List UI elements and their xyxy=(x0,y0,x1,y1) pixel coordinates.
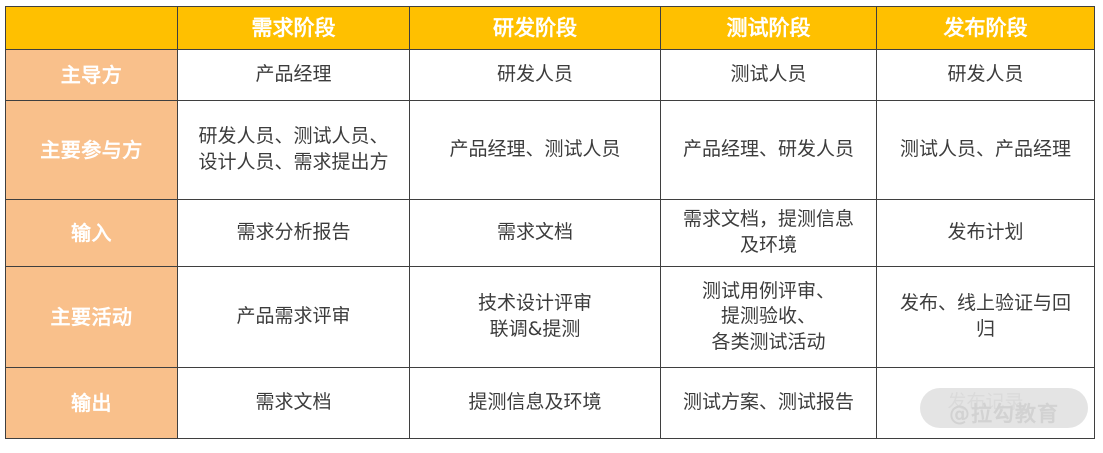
cell-activities-testing: 测试用例评审、 提测验收、 各类测试活动 xyxy=(661,267,877,368)
cell-input-testing: 需求文档，提测信息 及环境 xyxy=(661,200,877,267)
table-row: 主导方 产品经理 研发人员 测试人员 研发人员 xyxy=(6,50,1095,101)
cell-text-line: 研发人员 xyxy=(416,62,654,88)
table-corner-cell xyxy=(6,7,178,50)
cell-text-line: 测试人员 xyxy=(667,62,870,88)
cell-text-line: 设计人员、需求提出方 xyxy=(184,150,403,176)
cell-text-line: 发布记录 xyxy=(883,390,1088,416)
cell-text-line: 产品经理、研发人员 xyxy=(667,137,870,163)
cell-participants-release: 测试人员、产品经理 xyxy=(877,101,1095,200)
cell-participants-development: 产品经理、测试人员 xyxy=(410,101,661,200)
column-header-requirement: 需求阶段 xyxy=(178,7,410,50)
cell-activities-requirement: 产品需求评审 xyxy=(178,267,410,368)
cell-input-release: 发布计划 xyxy=(877,200,1095,267)
cell-output-testing: 测试方案、测试报告 xyxy=(661,368,877,439)
cell-text-line: 技术设计评审 xyxy=(416,291,654,317)
column-header-release: 发布阶段 xyxy=(877,7,1095,50)
row-label-output: 输出 xyxy=(6,368,178,439)
cell-owner-testing: 测试人员 xyxy=(661,50,877,101)
table-row: 主要活动 产品需求评审 技术设计评审 联调&提测 测试用例评审、 提测验收、 各… xyxy=(6,267,1095,368)
cell-text-line: 测试人员、产品经理 xyxy=(883,137,1088,163)
cell-text-line: 各类测试活动 xyxy=(667,330,870,356)
cell-text-line: 提测信息及环境 xyxy=(416,390,654,416)
cell-activities-development: 技术设计评审 联调&提测 xyxy=(410,267,661,368)
cell-text-line: 需求文档 xyxy=(184,390,403,416)
cell-participants-testing: 产品经理、研发人员 xyxy=(661,101,877,200)
table-row: 输出 需求文档 提测信息及环境 测试方案、测试报告 发布记录 xyxy=(6,368,1095,439)
table-row: 主要参与方 研发人员、测试人员、 设计人员、需求提出方 产品经理、测试人员 产品… xyxy=(6,101,1095,200)
cell-text-line: 需求文档，提测信息 xyxy=(667,207,870,233)
row-label-owner: 主导方 xyxy=(6,50,178,101)
row-label-input: 输入 xyxy=(6,200,178,267)
cell-text-line: 需求文档 xyxy=(416,220,654,246)
cell-output-requirement: 需求文档 xyxy=(178,368,410,439)
cell-owner-requirement: 产品经理 xyxy=(178,50,410,101)
cell-text-line: 需求分析报告 xyxy=(184,220,403,246)
cell-text-line: 产品需求评审 xyxy=(184,304,403,330)
cell-output-release: 发布记录 xyxy=(877,368,1095,439)
table-row: 输入 需求分析报告 需求文档 需求文档，提测信息 及环境 发布计划 xyxy=(6,200,1095,267)
cell-text-line: 及环境 xyxy=(667,233,870,259)
spreadsheet-canvas: 需求阶段 研发阶段 测试阶段 发布阶段 主导方 产品经理 研发人员 测试人员 研… xyxy=(0,0,1103,453)
cell-owner-development: 研发人员 xyxy=(410,50,661,101)
cell-text-line: 提测验收、 xyxy=(667,304,870,330)
cell-input-development: 需求文档 xyxy=(410,200,661,267)
cell-text-line: 联调&提测 xyxy=(416,317,654,343)
cell-text-line: 发布计划 xyxy=(883,220,1088,246)
cell-text-line: 研发人员、测试人员、 xyxy=(184,124,403,150)
cell-text-line: 产品经理、测试人员 xyxy=(416,137,654,163)
cell-activities-release: 发布、线上验证与回 归 xyxy=(877,267,1095,368)
table-header-row: 需求阶段 研发阶段 测试阶段 发布阶段 xyxy=(6,7,1095,50)
cell-text-line: 测试用例评审、 xyxy=(667,279,870,305)
row-label-activities: 主要活动 xyxy=(6,267,178,368)
cell-text-line: 发布、线上验证与回 xyxy=(883,291,1088,317)
cell-output-development: 提测信息及环境 xyxy=(410,368,661,439)
row-label-participants: 主要参与方 xyxy=(6,101,178,200)
column-header-testing: 测试阶段 xyxy=(661,7,877,50)
cell-text-line: 归 xyxy=(883,317,1088,343)
column-header-development: 研发阶段 xyxy=(410,7,661,50)
phase-comparison-table: 需求阶段 研发阶段 测试阶段 发布阶段 主导方 产品经理 研发人员 测试人员 研… xyxy=(5,6,1095,439)
cell-owner-release: 研发人员 xyxy=(877,50,1095,101)
cell-input-requirement: 需求分析报告 xyxy=(178,200,410,267)
cell-text-line: 测试方案、测试报告 xyxy=(667,390,870,416)
cell-text-line: 产品经理 xyxy=(184,62,403,88)
cell-text-line: 研发人员 xyxy=(883,62,1088,88)
cell-participants-requirement: 研发人员、测试人员、 设计人员、需求提出方 xyxy=(178,101,410,200)
